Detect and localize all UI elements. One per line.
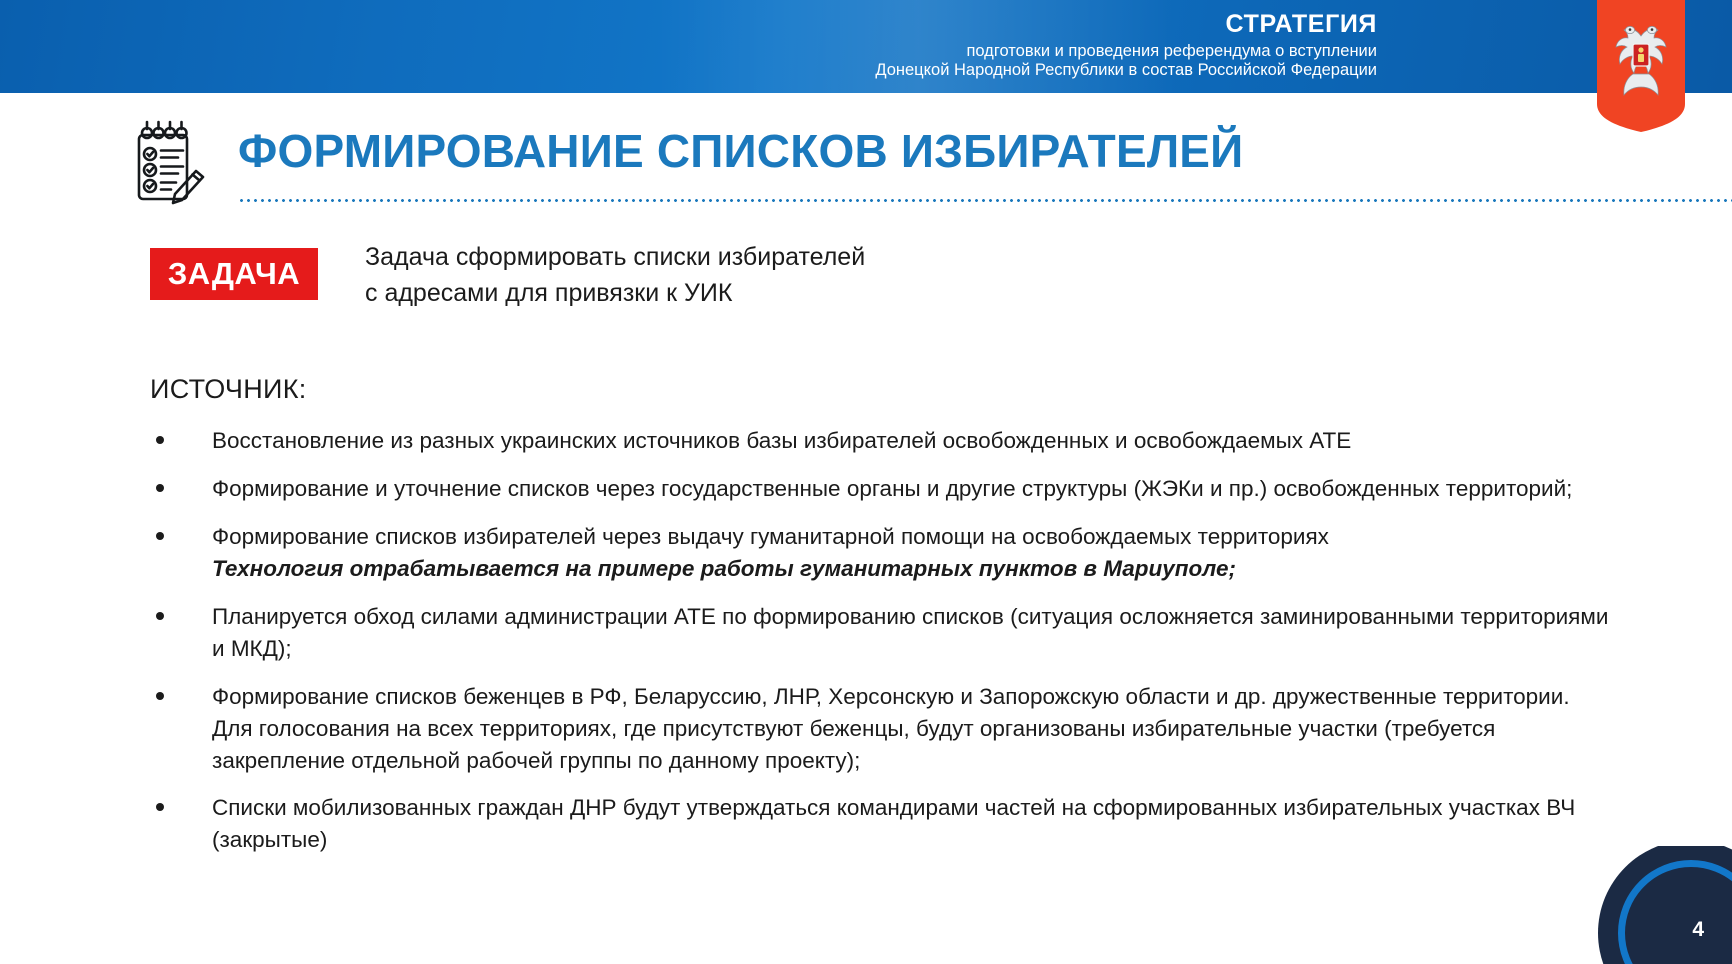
list-item-text: Формирование списков избирателей через в…	[212, 521, 1610, 553]
task-description: Задача сформировать списки избирателей с…	[365, 240, 865, 311]
header-subtitle-line-1: подготовки и проведения референдума о вс…	[875, 42, 1377, 61]
list-item-text: Формирование списков беженцев в РФ, Бела…	[212, 681, 1610, 777]
list-item-emphasis-text: Технология отрабатывается на примере раб…	[212, 553, 1610, 585]
bullet-dot-icon	[156, 484, 164, 492]
list-item-text: Планируется обход силами администрации А…	[212, 601, 1610, 665]
list-item-text: Списки мобилизованных граждан ДНР будут …	[212, 792, 1610, 856]
page-number: 4	[1692, 918, 1704, 942]
list-item: Списки мобилизованных граждан ДНР будут …	[150, 792, 1610, 856]
bullet-dot-icon	[156, 532, 164, 540]
source-heading: ИСТОЧНИК:	[150, 374, 307, 405]
task-line-2: с адресами для привязки к УИК	[365, 276, 865, 312]
status-badge: ЗАДАЧА	[150, 248, 318, 300]
task-block: ЗАДАЧА Задача сформировать списки избира…	[150, 240, 1590, 312]
dnr-coat-of-arms-icon	[1597, 0, 1685, 132]
list-item: Формирование списков беженцев в РФ, Бела…	[150, 681, 1610, 777]
bullet-dot-icon	[156, 692, 164, 700]
slide-root: СТРАТЕГИЯ подготовки и проведения рефере…	[0, 0, 1732, 964]
header-title: СТРАТЕГИЯ	[875, 10, 1377, 40]
list-item: Планируется обход силами администрации А…	[150, 601, 1610, 665]
header-text-block: СТРАТЕГИЯ подготовки и проведения рефере…	[875, 10, 1377, 80]
list-item-text: Формирование и уточнение списков через г…	[212, 473, 1610, 505]
checklist-notepad-pencil-icon	[128, 118, 210, 206]
header-bar: СТРАТЕГИЯ подготовки и проведения рефере…	[0, 0, 1732, 93]
list-item: Формирование и уточнение списков через г…	[150, 473, 1610, 505]
title-divider	[238, 199, 1732, 202]
list-item: Восстановление из разных украинских исто…	[150, 425, 1610, 457]
list-item-text: Восстановление из разных украинских исто…	[212, 425, 1610, 457]
bullet-dot-icon	[156, 436, 164, 444]
slide-title-row: ФОРМИРОВАНИЕ СПИСКОВ ИЗБИРАТЕЛЕЙ	[128, 112, 1608, 204]
source-bullet-list: Восстановление из разных украинских исто…	[150, 425, 1610, 872]
bullet-dot-icon	[156, 803, 164, 811]
header-subtitle-line-2: Донецкой Народной Республики в состав Ро…	[875, 61, 1377, 80]
list-item: Формирование списков избирателей через в…	[150, 521, 1610, 585]
page-title: ФОРМИРОВАНИЕ СПИСКОВ ИЗБИРАТЕЛЕЙ	[238, 124, 1243, 178]
task-line-1: Задача сформировать списки избирателей	[365, 240, 865, 276]
corner-decoration: 4	[1582, 846, 1732, 964]
bullet-dot-icon	[156, 612, 164, 620]
